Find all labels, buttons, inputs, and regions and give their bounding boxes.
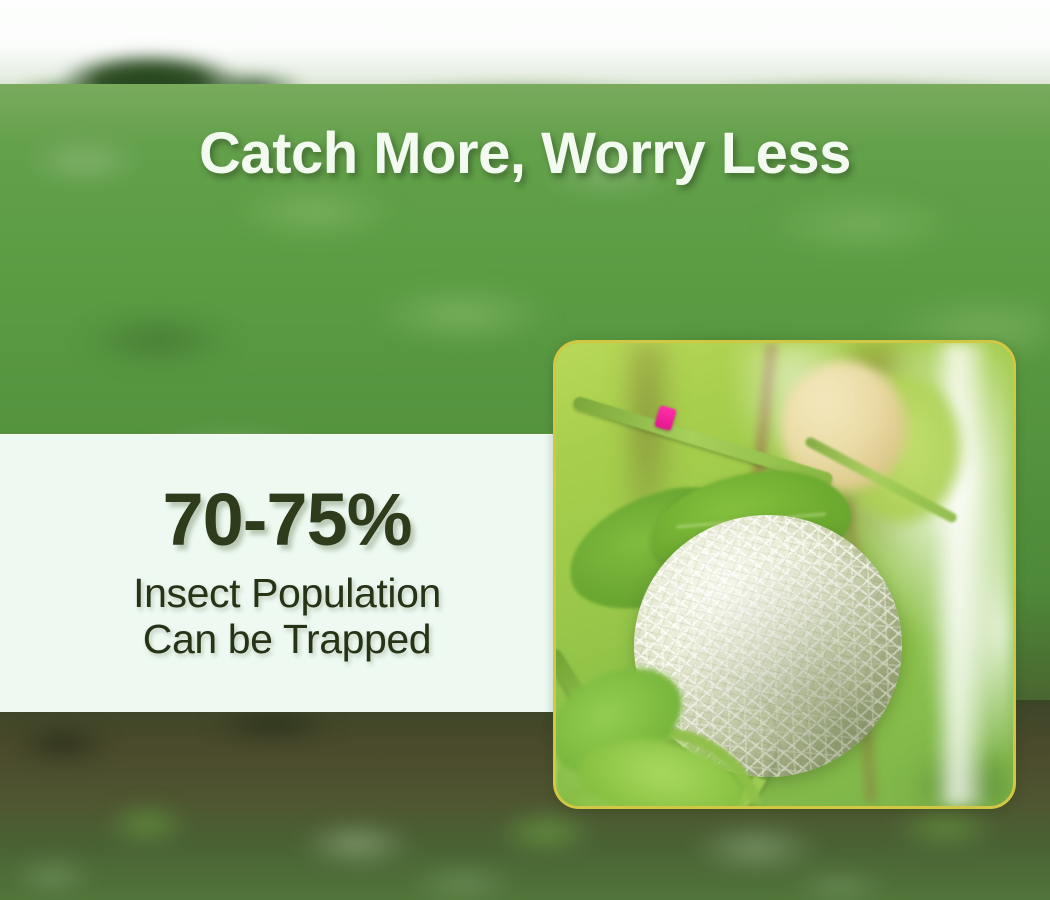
stat-percentage: 70-75% xyxy=(162,483,411,557)
stat-caption-line-2: Can be Trapped xyxy=(143,617,431,663)
stat-caption-line-1: Insect Population xyxy=(133,571,441,617)
poster-canvas: Catch More, Worry Less 70-75% Insect Pop… xyxy=(0,0,1050,900)
melon-photo xyxy=(556,343,1013,806)
stat-panel-content: 70-75% Insect Population Can be Trapped xyxy=(0,434,554,712)
page-title: Catch More, Worry Less xyxy=(0,124,1050,185)
stat-panel: 70-75% Insect Population Can be Trapped xyxy=(0,434,554,712)
melon-photo-card xyxy=(553,340,1016,809)
